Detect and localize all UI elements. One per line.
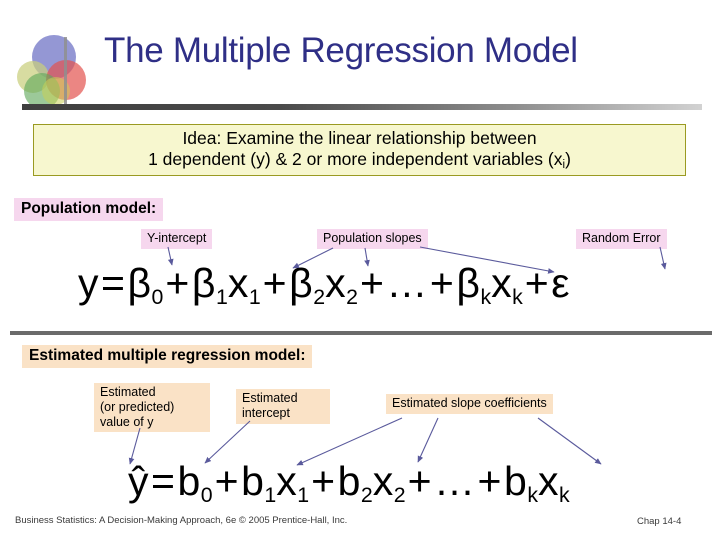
- eq-est-plus-2: +: [309, 458, 337, 504]
- eq-est-term-4-coef: b: [504, 458, 527, 504]
- eq-est-term-4-var: x: [538, 458, 559, 504]
- eq-est-term-1-var: x: [276, 458, 297, 504]
- eq-pop-term-2-coef: β: [289, 260, 313, 306]
- eq-est-term-4-var-sub: k: [559, 483, 570, 507]
- eq-est-term-2-var-sub: 2: [394, 483, 406, 507]
- eq-pop-plus-1: +: [163, 260, 191, 306]
- eq-pop-term-1-coef: β: [192, 260, 216, 306]
- callout-y-intercept: Y-intercept: [141, 229, 212, 249]
- estimated-model-header: Estimated multiple regression model:: [22, 345, 312, 368]
- eq-est-plus-3: +: [406, 458, 434, 504]
- eq-est-equals: =: [149, 458, 177, 504]
- eq-pop-ellipsis: …: [386, 260, 428, 306]
- eq-pop-equals: =: [99, 260, 127, 306]
- eq-pop-term-0-sub: 0: [152, 285, 164, 309]
- eq-pop-term-1-var-sub: 1: [249, 285, 261, 309]
- eq-pop-plus-4: +: [428, 260, 456, 306]
- callout-population-slopes: Population slopes: [317, 229, 428, 249]
- arrow-slope-coeff-2: [418, 418, 438, 462]
- footer-source-text: Business Statistics: A Decision-Making A…: [15, 515, 347, 526]
- eq-pop-error-term: ε: [551, 260, 570, 306]
- eq-est-term-2-sub: 2: [361, 483, 373, 507]
- estimated-regression-equation: ŷ=b0+b1x1+b2x2+…+bkxk: [128, 458, 570, 508]
- idea-callout-box: Idea: Examine the linear relationship be…: [33, 124, 686, 176]
- eq-pop-plus-3: +: [358, 260, 386, 306]
- eq-est-term-2-coef: b: [338, 458, 361, 504]
- eq-pop-lhs: y: [78, 260, 99, 306]
- eq-pop-term-2-var: x: [325, 260, 346, 306]
- idea-line-2-close: ): [565, 149, 571, 169]
- eq-pop-term-4-sub: k: [480, 285, 491, 309]
- eq-pop-term-2-sub: 2: [313, 285, 325, 309]
- eq-pop-plus-5: +: [523, 260, 551, 306]
- arrow-random-error: [660, 247, 665, 269]
- eq-pop-term-1-sub: 1: [216, 285, 228, 309]
- eq-pop-term-4-var-sub: k: [512, 285, 523, 309]
- eq-pop-term-2-var-sub: 2: [346, 285, 358, 309]
- callout-estimated-intercept: Estimated intercept: [236, 389, 330, 424]
- population-model-header: Population model:: [14, 198, 163, 221]
- arrow-estimated-intercept: [205, 421, 250, 463]
- idea-line-2-text: 1 dependent (y) & 2 or more independent …: [148, 149, 562, 169]
- title-divider-rule: [22, 104, 702, 110]
- eq-pop-plus-2: +: [261, 260, 289, 306]
- footer-chapter-number: Chap 14-4: [637, 516, 681, 527]
- eq-est-plus-1: +: [213, 458, 241, 504]
- decorative-circles-graphic: [8, 33, 104, 111]
- eq-est-term-1-var-sub: 1: [297, 483, 309, 507]
- eq-est-plus-4: +: [476, 458, 504, 504]
- eq-pop-term-0-coef: β: [127, 260, 151, 306]
- eq-pop-term-4-coef: β: [456, 260, 480, 306]
- eq-pop-term-1-var: x: [228, 260, 249, 306]
- eq-est-lhs-y-hat: ŷ: [128, 458, 149, 505]
- eq-est-term-1-coef: b: [241, 458, 264, 504]
- section-divider-rule: [10, 331, 712, 335]
- idea-line-1: Idea: Examine the linear relationship be…: [182, 128, 536, 149]
- eq-est-term-0-sub: 0: [201, 483, 213, 507]
- callout-predicted-value-of-y: Estimated (or predicted) value of y: [94, 383, 210, 432]
- population-regression-equation: y=β0+β1x1+β2x2+…+βkxk+ε: [78, 260, 570, 310]
- eq-est-term-4-sub: k: [527, 483, 538, 507]
- eq-est-term-1-sub: 1: [264, 483, 276, 507]
- callout-random-error: Random Error: [576, 229, 667, 249]
- eq-est-term-2-var: x: [373, 458, 394, 504]
- idea-line-2: 1 dependent (y) & 2 or more independent …: [148, 149, 571, 172]
- eq-est-term-0-coef: b: [177, 458, 200, 504]
- callout-estimated-slope-coefficients: Estimated slope coefficients: [386, 394, 553, 414]
- eq-pop-term-4-var: x: [491, 260, 512, 306]
- eq-est-ellipsis: …: [434, 458, 476, 504]
- page-title: The Multiple Regression Model: [104, 31, 578, 71]
